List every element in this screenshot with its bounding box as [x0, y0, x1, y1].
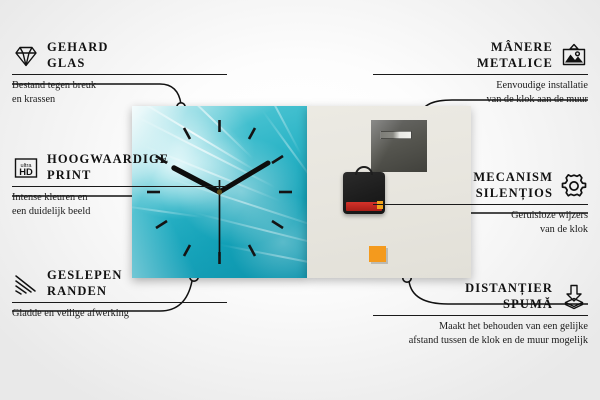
feature-title: HOOGWAARDIGE PRINT — [47, 152, 169, 183]
feature-description: Geruisloze wijzers van de klok — [373, 209, 588, 236]
feature-description: Intense kleuren en een duidelijk beeld — [12, 191, 227, 218]
feature-hoogwaardige-print: ultra HD HOOGWAARDIGE PRINT Intense kleu… — [12, 152, 227, 218]
feature-mecanism-silentios: MECANISM SILENȚIOS Geruisloze wijzers va… — [373, 170, 588, 236]
bevelled-edges-icon — [12, 270, 40, 298]
feature-manere-metalice: MÂNERE METALICE Eenvoudige installatie v… — [373, 40, 588, 106]
feature-distantier-spuma: DISTANȚIER SPUMĂ Maakt het behouden van … — [373, 281, 588, 347]
foam-spacer-part — [369, 246, 386, 262]
infographic-canvas: GEHARD GLAS Bestand tegen breuk en krass… — [0, 0, 600, 400]
gear-icon — [560, 172, 588, 200]
diamond-icon — [12, 42, 40, 70]
ultra-hd-icon: ultra HD — [12, 154, 40, 182]
svg-text:HD: HD — [19, 166, 33, 177]
divider — [373, 74, 588, 75]
divider — [12, 74, 227, 75]
divider — [373, 204, 588, 205]
divider — [373, 315, 588, 316]
feature-description: Gladde en veilige afwerking — [12, 307, 227, 321]
picture-hanger-icon — [560, 42, 588, 70]
hanger-keyhole-slot — [380, 131, 412, 139]
metal-hanger-part — [371, 120, 427, 172]
divider — [12, 302, 227, 303]
feature-title: GEHARD GLAS — [47, 40, 108, 71]
feature-description: Eenvoudige installatie van de klok aan d… — [373, 79, 588, 106]
feature-description: Maakt het behouden van een gelijke afsta… — [373, 320, 588, 347]
feature-title: MECANISM SILENȚIOS — [473, 170, 553, 201]
feature-title: DISTANȚIER SPUMĂ — [465, 281, 553, 312]
feature-title: GESLEPEN RANDEN — [47, 268, 123, 299]
foam-spacer-icon — [560, 283, 588, 311]
feature-gehard-glas: GEHARD GLAS Bestand tegen breuk en krass… — [12, 40, 227, 106]
feature-title: MÂNERE METALICE — [477, 40, 553, 71]
feature-geslepen-randen: GESLEPEN RANDEN Gladde en veilige afwerk… — [12, 268, 227, 321]
feature-description: Bestand tegen breuk en krassen — [12, 79, 227, 106]
divider — [12, 186, 227, 187]
